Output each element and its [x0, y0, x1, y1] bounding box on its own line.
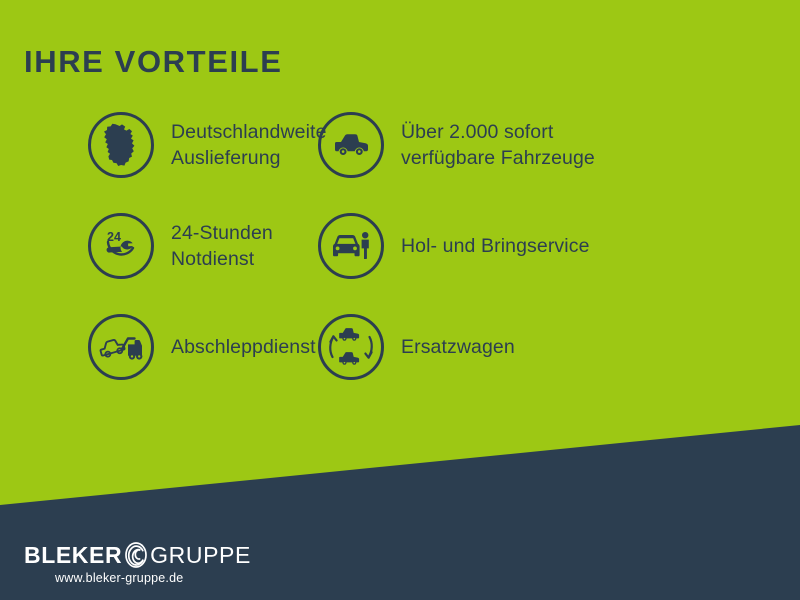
tow-truck-icon: [88, 314, 154, 380]
benefits-row: Deutschlandweite Auslieferung Über 2.000…: [0, 112, 800, 213]
benefit-label: Ersatzwagen: [401, 334, 515, 360]
bleker-spiral-logo-icon: [123, 542, 149, 568]
benefit-item-hol-und-bringservice[interactable]: Hol- und Bringservice: [315, 213, 800, 279]
germany-map-icon: [88, 112, 154, 178]
benefit-item-24-stunden-notdienst[interactable]: 24 24-Stunden Notdienst: [0, 213, 315, 279]
benefit-label: Über 2.000 sofort verfügbare Fahrzeuge: [401, 119, 595, 172]
benefit-item-ersatzwagen[interactable]: Ersatzwagen: [315, 314, 800, 380]
benefit-item-deutschlandweite-auslieferung[interactable]: Deutschlandweite Auslieferung: [0, 112, 315, 178]
24-hour-wrench-icon: 24: [88, 213, 154, 279]
benefit-label: Hol- und Bringservice: [401, 233, 590, 259]
slide-canvas: IHRE VORTEILE Deutschlandweite Ausliefer…: [0, 0, 800, 600]
page-title: IHRE VORTEILE: [24, 46, 283, 77]
benefits-row: 24 24-Stunden Notdienst: [0, 213, 800, 314]
benefit-item-abschleppdienst[interactable]: Abschleppdienst: [0, 314, 315, 380]
benefit-item-verfuegbare-fahrzeuge[interactable]: Über 2.000 sofort verfügbare Fahrzeuge: [315, 112, 800, 178]
logo-primary-text: BLEKER: [24, 544, 122, 567]
car-side-icon: [318, 112, 384, 178]
benefits-row: Abschleppdienst: [0, 314, 800, 415]
two-cars-swap-icon: [318, 314, 384, 380]
benefit-label: Abschleppdienst: [171, 334, 316, 360]
benefit-label: Deutschlandweite Auslieferung: [171, 119, 327, 172]
car-with-person-icon: [318, 213, 384, 279]
logo-secondary-text: GRUPPE: [150, 544, 251, 567]
footer-logo[interactable]: BLEKER GRUPPE www.bleker-gruppe.de: [24, 542, 251, 585]
benefit-label: 24-Stunden Notdienst: [171, 220, 273, 273]
logo-url[interactable]: www.bleker-gruppe.de: [55, 572, 251, 585]
benefits-grid: Deutschlandweite Auslieferung Über 2.000…: [0, 112, 800, 415]
logo-wordmark: BLEKER GRUPPE: [24, 542, 251, 568]
